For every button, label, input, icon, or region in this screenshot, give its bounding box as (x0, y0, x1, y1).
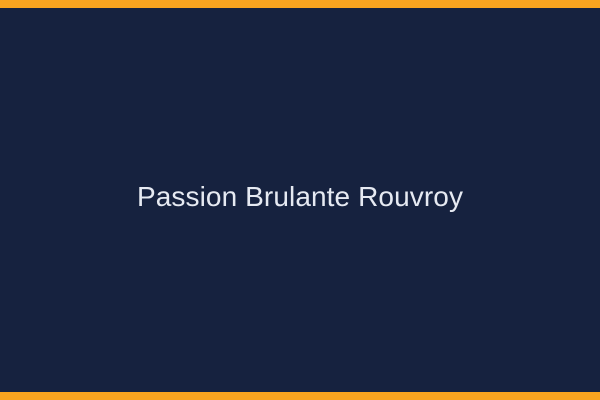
placeholder-banner: Passion Brulante Rouvroy (0, 0, 600, 400)
caption-container: Passion Brulante Rouvroy (0, 0, 600, 400)
banner-title: Passion Brulante Rouvroy (137, 181, 463, 213)
bottom-accent-bar (0, 392, 600, 400)
